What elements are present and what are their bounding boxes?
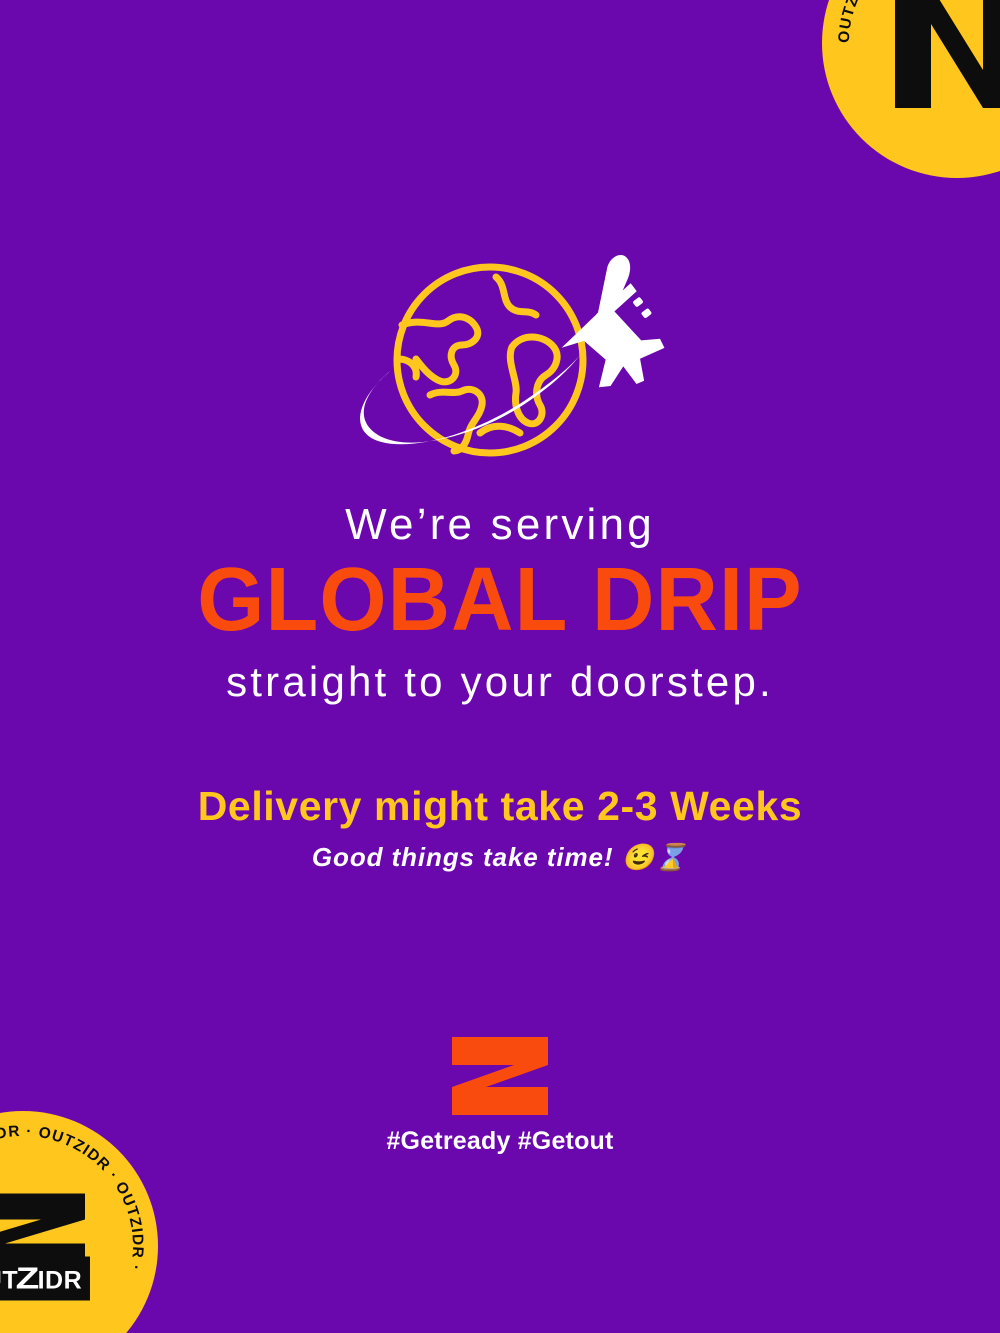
badge-core-bottom-left: OUTZIDR [0,1192,107,1301]
reassurance-text: Good things take time! 😉⌛ [0,843,1000,872]
badge-bottom-left: OUTZIDR · OUTZIDR · OUTZIDR · OUTZIDR · … [0,1111,158,1333]
subhead-text: straight to your doorstep. [0,658,1000,706]
badge-wordmark-z: Z [16,1263,40,1294]
badge-top-right: OUTZIDR · OUTZIDR · OUTZIDR · OUTZIDR · [822,0,1000,178]
delivery-estimate-text: Delivery might take 2-3 Weeks [0,784,1000,829]
badge-letter-mark-top-right [872,0,1000,113]
badge-wordmark: OUTZIDR [0,1257,90,1301]
badge-wordmark-post: IDR [38,1267,83,1295]
outzidr-z-logo [446,1035,554,1117]
eyebrow-text: We’re serving [0,500,1000,549]
poster-canvas: OUTZIDR · OUTZIDR · OUTZIDR · OUTZIDR · [0,0,1000,1333]
airplane-icon [537,255,670,408]
headline-global-drip: GLOBAL DRIP [0,552,1000,649]
globe-airplane-icon [330,255,670,477]
globe-outline [397,267,583,453]
copy-block: We’re serving GLOBAL DRIP straight to yo… [0,500,1000,871]
